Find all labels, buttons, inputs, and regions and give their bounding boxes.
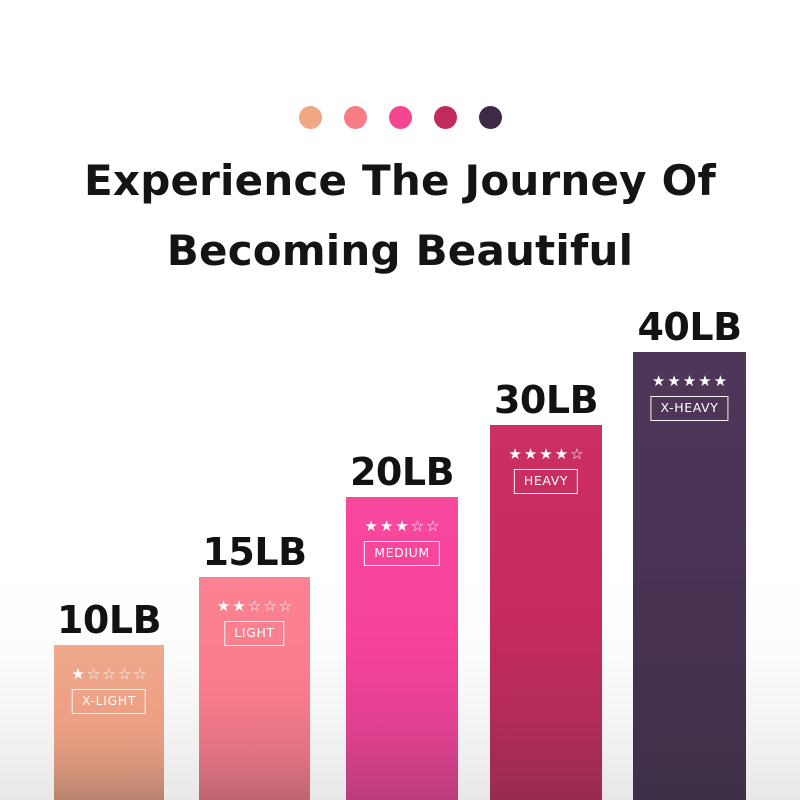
- star-empty-icon: ☆: [426, 519, 439, 534]
- star-empty-icon: ☆: [102, 667, 115, 682]
- bar-10lb[interactable]: ★☆☆☆☆X-LIGHT: [54, 645, 164, 800]
- bar-value-label: 20LB: [350, 453, 454, 491]
- level-label: LIGHT: [224, 621, 284, 646]
- promo-graphic: Experience The Journey Of Becoming Beaut…: [0, 0, 800, 800]
- rating-stars: ★★★★☆: [508, 447, 583, 462]
- star-filled-icon: ★: [508, 447, 521, 462]
- star-empty-icon: ☆: [133, 667, 146, 682]
- bar-badge: ★★★★★X-HEAVY: [641, 374, 738, 421]
- star-filled-icon: ★: [232, 599, 245, 614]
- bar-30lb[interactable]: ★★★★☆HEAVY: [490, 425, 602, 800]
- star-filled-icon: ★: [364, 519, 377, 534]
- bar-value-label: 15LB: [202, 533, 306, 571]
- star-filled-icon: ★: [555, 447, 568, 462]
- star-filled-icon: ★: [667, 374, 680, 389]
- level-label: X-LIGHT: [72, 689, 146, 714]
- star-filled-icon: ★: [395, 519, 408, 534]
- level-label: MEDIUM: [364, 541, 440, 566]
- star-filled-icon: ★: [539, 447, 552, 462]
- star-filled-icon: ★: [71, 667, 84, 682]
- bar-group-30lb[interactable]: 30LB★★★★☆HEAVY: [490, 373, 602, 800]
- star-empty-icon: ☆: [263, 599, 276, 614]
- star-filled-icon: ★: [380, 519, 393, 534]
- bar-group-10lb[interactable]: 10LB★☆☆☆☆X-LIGHT: [54, 593, 164, 800]
- star-empty-icon: ☆: [411, 519, 424, 534]
- star-empty-icon: ☆: [248, 599, 261, 614]
- star-empty-icon: ☆: [118, 667, 131, 682]
- star-empty-icon: ☆: [279, 599, 292, 614]
- level-label: X-HEAVY: [651, 396, 729, 421]
- rating-stars: ★★★★★: [652, 374, 727, 389]
- star-empty-icon: ☆: [87, 667, 100, 682]
- bar-badge: ★☆☆☆☆X-LIGHT: [62, 667, 157, 714]
- bar-15lb[interactable]: ★★☆☆☆LIGHT: [199, 577, 310, 800]
- star-filled-icon: ★: [652, 374, 665, 389]
- rating-stars: ★★☆☆☆: [217, 599, 292, 614]
- level-label: HEAVY: [514, 469, 578, 494]
- bar-badge: ★★☆☆☆LIGHT: [207, 599, 302, 646]
- star-empty-icon: ☆: [570, 447, 583, 462]
- bar-20lb[interactable]: ★★★☆☆MEDIUM: [346, 497, 458, 800]
- star-filled-icon: ★: [217, 599, 230, 614]
- bar-40lb[interactable]: ★★★★★X-HEAVY: [633, 352, 746, 800]
- rating-stars: ★☆☆☆☆: [71, 667, 146, 682]
- bar-value-label: 40LB: [637, 308, 741, 346]
- bar-group-15lb[interactable]: 15LB★★☆☆☆LIGHT: [199, 525, 310, 800]
- star-filled-icon: ★: [698, 374, 711, 389]
- bar-value-label: 30LB: [494, 381, 598, 419]
- bar-group-40lb[interactable]: 40LB★★★★★X-HEAVY: [633, 300, 746, 800]
- rating-stars: ★★★☆☆: [364, 519, 439, 534]
- bar-value-label: 10LB: [57, 601, 161, 639]
- star-filled-icon: ★: [714, 374, 727, 389]
- bar-group-20lb[interactable]: 20LB★★★☆☆MEDIUM: [346, 445, 458, 800]
- star-filled-icon: ★: [683, 374, 696, 389]
- bar-badge: ★★★☆☆MEDIUM: [354, 519, 450, 566]
- star-filled-icon: ★: [524, 447, 537, 462]
- bar-badge: ★★★★☆HEAVY: [498, 447, 594, 494]
- resistance-band-bar-chart: 10LB★☆☆☆☆X-LIGHT15LB★★☆☆☆LIGHT20LB★★★☆☆M…: [0, 0, 800, 800]
